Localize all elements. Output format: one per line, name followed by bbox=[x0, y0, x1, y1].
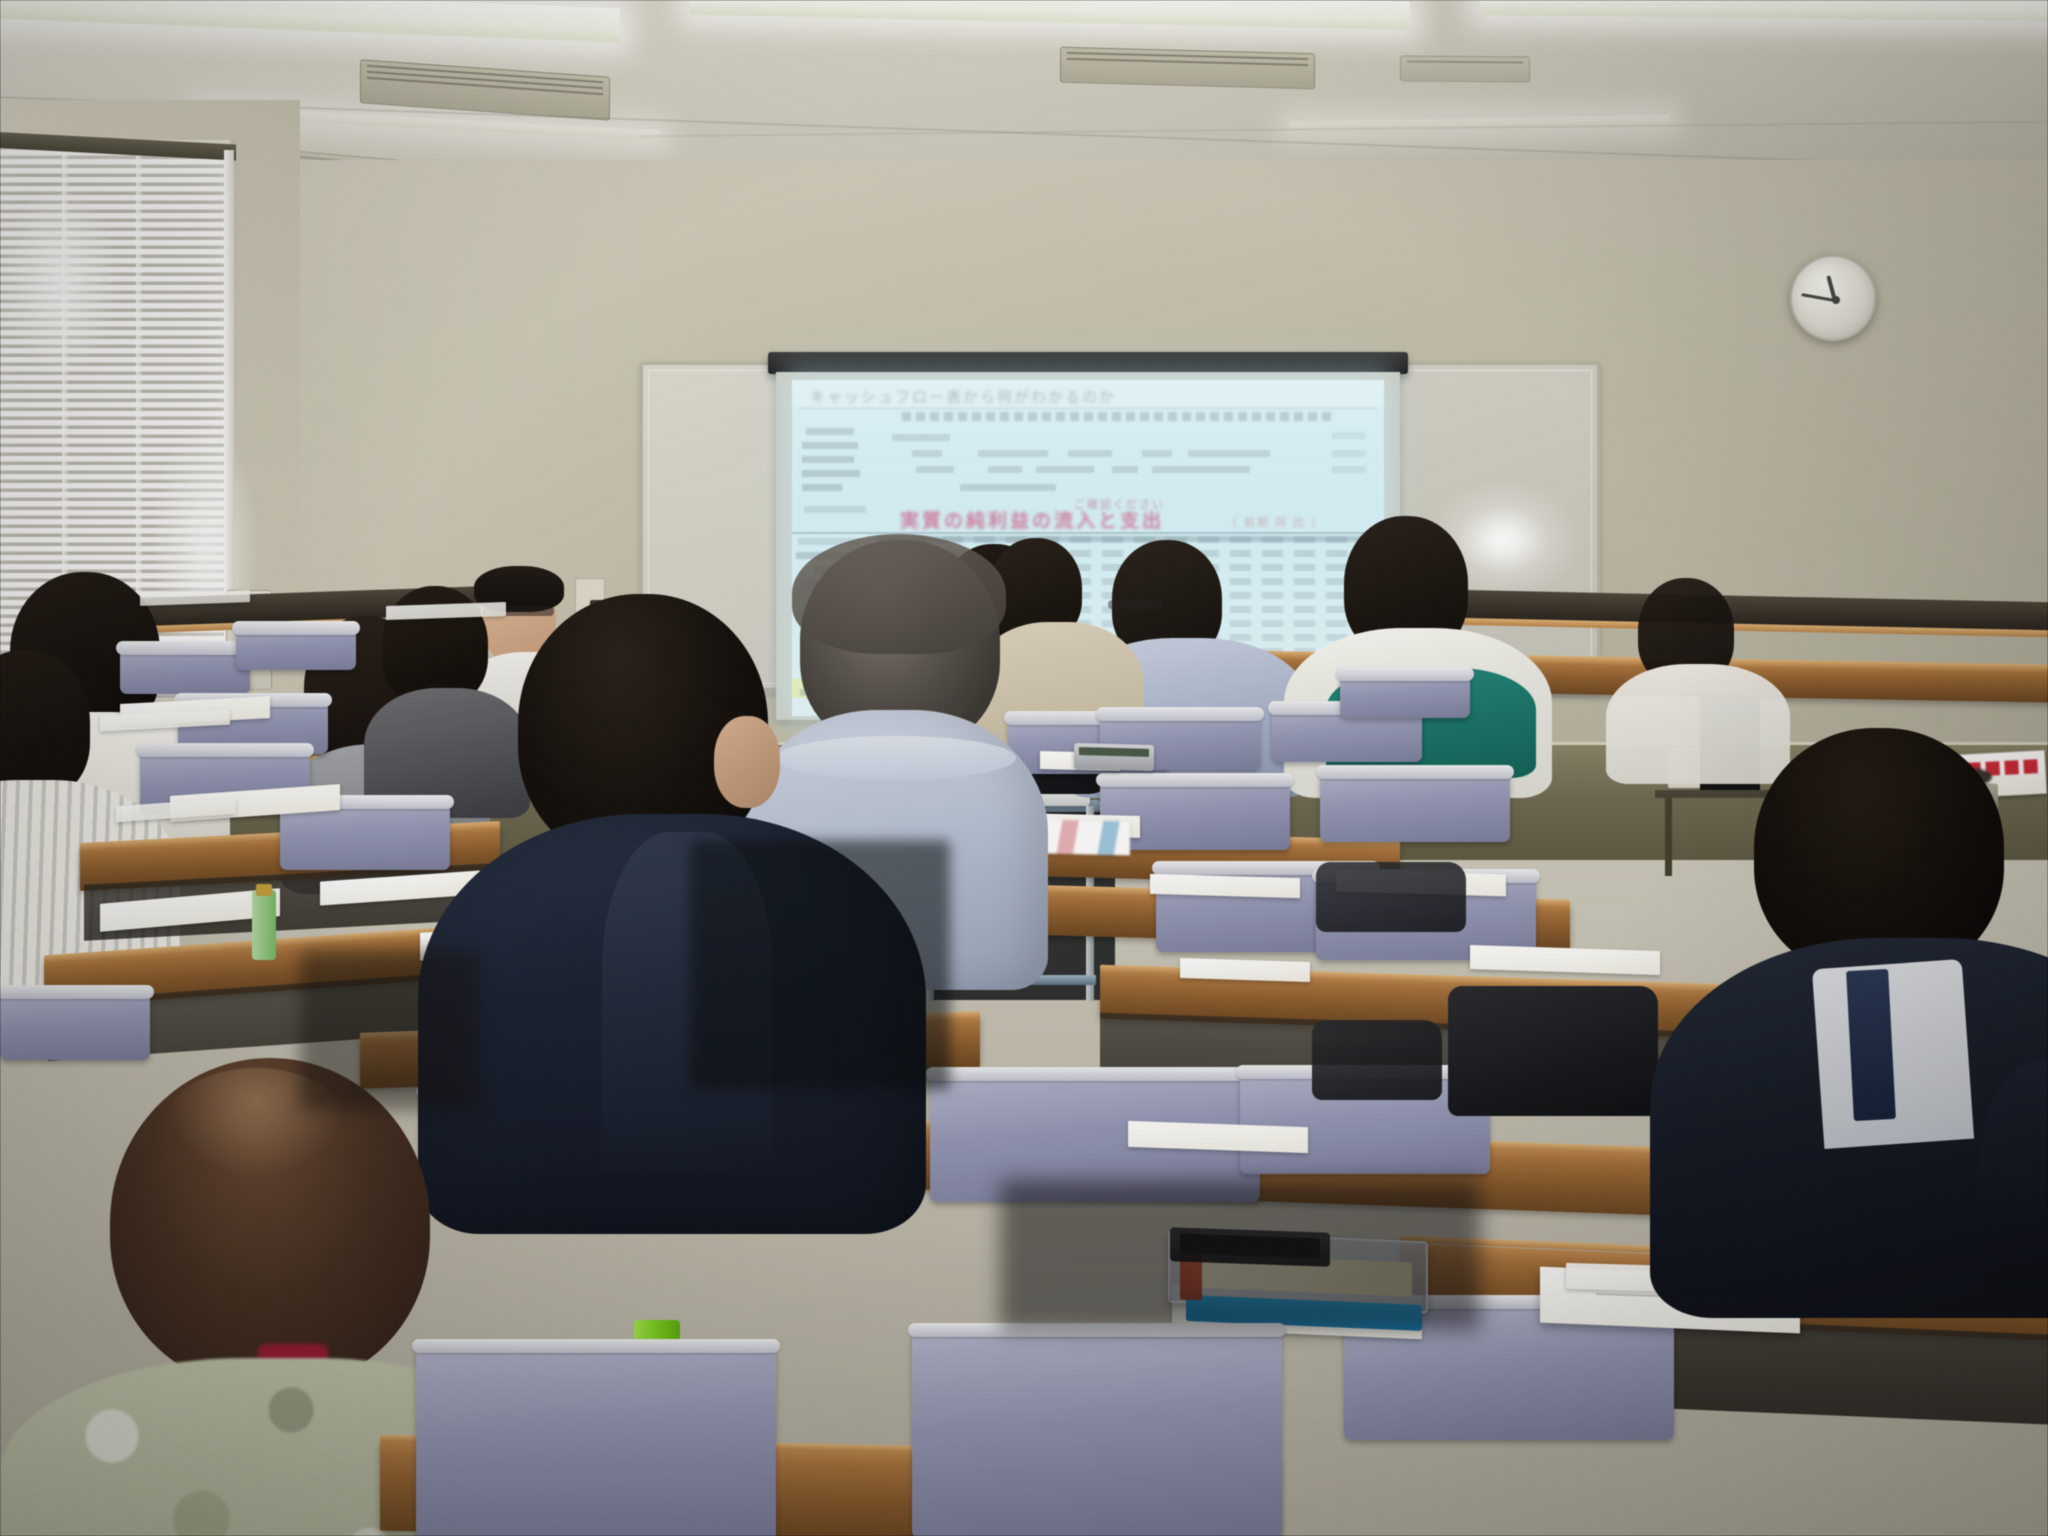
ceiling-vent-right bbox=[1400, 55, 1530, 82]
slide-title: キャッシュフロー表から何がわかるのか bbox=[810, 386, 1370, 406]
attendee-hair bbox=[0, 650, 90, 800]
chair[interactable] bbox=[912, 1328, 1282, 1536]
chair[interactable] bbox=[416, 1344, 776, 1536]
slide-red-heading: 実質の純利益の流入と支出 bbox=[900, 506, 1164, 533]
chair[interactable] bbox=[1320, 770, 1510, 842]
calculator[interactable] bbox=[1074, 743, 1154, 771]
ceiling-vent-mid bbox=[1060, 47, 1315, 90]
chair[interactable] bbox=[236, 626, 356, 670]
slide-subtitle bbox=[902, 412, 1332, 421]
handout-stack bbox=[1150, 874, 1300, 898]
under-table-shadow bbox=[300, 950, 480, 1110]
handout-stack bbox=[1180, 958, 1310, 982]
under-table-shadow bbox=[1000, 1180, 1480, 1330]
blind-light-glow bbox=[0, 180, 120, 380]
clock-minute-hand bbox=[1801, 293, 1835, 302]
bag bbox=[1312, 1020, 1442, 1100]
av-shelf-leg bbox=[1665, 796, 1672, 876]
attendee-torso bbox=[1980, 1060, 2048, 1290]
bag bbox=[1316, 862, 1466, 932]
seminar-room-photo: キャッシュフロー表から何がわかるのか ご確認ください 実質の純利益の流入と支出 … bbox=[0, 0, 2048, 1536]
list-item bbox=[1980, 1060, 2048, 1280]
chair[interactable] bbox=[120, 646, 250, 694]
wall-clock bbox=[1790, 255, 1876, 341]
under-table-shadow bbox=[690, 840, 950, 1090]
clock-center-pin bbox=[1832, 296, 1840, 304]
attendee-ear bbox=[714, 716, 780, 808]
chair[interactable] bbox=[0, 990, 150, 1060]
small-bottle-cap bbox=[256, 884, 272, 896]
small-bottle bbox=[252, 890, 276, 960]
attendee-shirt bbox=[1812, 959, 1974, 1149]
black-backpack bbox=[1448, 986, 1658, 1116]
necktie bbox=[1846, 969, 1896, 1121]
screen-roller-case bbox=[768, 352, 1408, 374]
chair[interactable] bbox=[1340, 672, 1470, 718]
